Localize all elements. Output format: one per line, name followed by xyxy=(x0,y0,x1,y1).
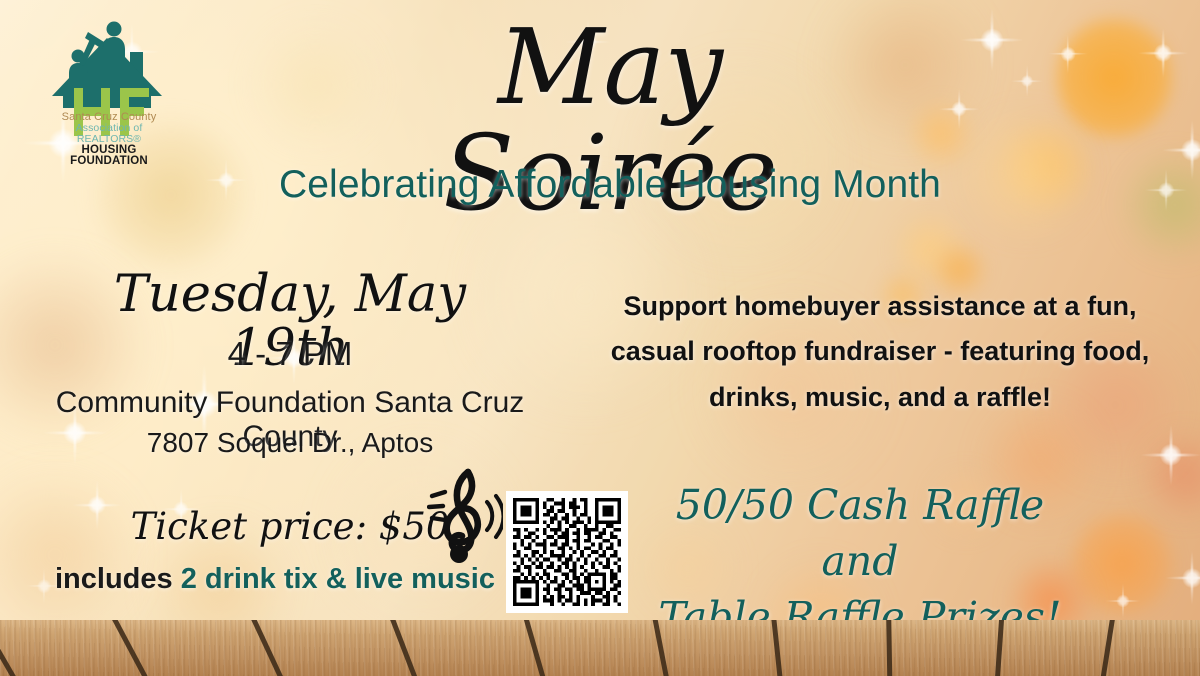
bokeh-circle xyxy=(1140,430,1200,520)
bokeh-circle xyxy=(1070,512,1174,616)
event-address: 7807 Soquel Dr., Aptos xyxy=(20,427,560,459)
raffle-line: 50/50 Cash Raffle and xyxy=(645,478,1075,590)
event-time: 4 - 7 PM xyxy=(70,335,510,373)
bokeh-circle xyxy=(250,20,380,150)
support-copy: Support homebuyer assistance at a fun, c… xyxy=(580,284,1180,420)
flyer-subtitle: Celebrating Affordable Housing Month xyxy=(180,163,1040,207)
sparkle-star xyxy=(930,80,988,138)
sparkle-star xyxy=(1136,160,1196,220)
sparkle-star xyxy=(948,0,1036,84)
sparkle-star xyxy=(1004,58,1050,104)
ticket-price: Ticket price: $50 xyxy=(120,505,460,548)
sparkle-star xyxy=(1154,540,1200,616)
wooden-deck xyxy=(0,620,1200,676)
sparkle-star xyxy=(1040,26,1096,82)
logo-line-2: Association of REALTORS® xyxy=(42,123,176,144)
support-copy-line: casual rooftop fundraiser - featuring fo… xyxy=(580,329,1180,374)
sparkle-star xyxy=(1098,576,1148,626)
bokeh-circle xyxy=(1120,150,1200,260)
treble-clef-icon xyxy=(427,466,503,570)
event-flyer: Santa Cruz County Association of REALTOR… xyxy=(0,0,1200,676)
bokeh-circle xyxy=(890,210,970,290)
bokeh-circle xyxy=(0,470,140,640)
qr-code-icon[interactable] xyxy=(506,491,628,613)
housing-foundation-logo: Santa Cruz County Association of REALTOR… xyxy=(44,12,174,152)
bokeh-circle xyxy=(1055,14,1173,142)
sparkle-star xyxy=(1150,108,1200,192)
sparkle-star xyxy=(1128,18,1198,88)
sparkle-star xyxy=(1128,412,1200,498)
ticket-includes-prefix: includes xyxy=(55,563,181,595)
support-copy-line: drinks, music, and a raffle! xyxy=(580,375,1180,420)
bokeh-circle xyxy=(905,98,977,170)
deck-grain xyxy=(0,620,1200,676)
logo-line-3: HOUSING FOUNDATION xyxy=(42,145,176,168)
support-copy-line: Support homebuyer assistance at a fun, xyxy=(580,284,1180,329)
bokeh-circle xyxy=(820,0,990,150)
